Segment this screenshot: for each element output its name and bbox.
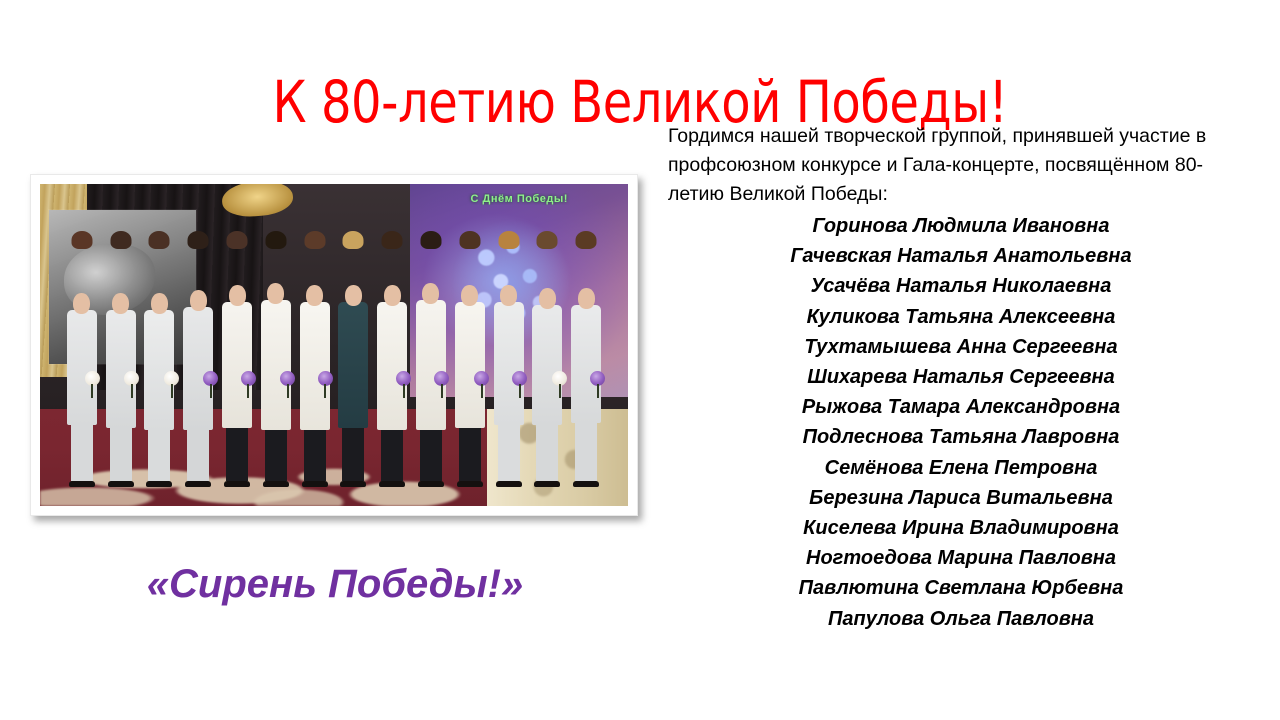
participant-name: Рыжова Тамара Александровна [668,392,1254,422]
person [528,236,567,487]
person [218,236,257,487]
person [101,236,140,487]
participant-name: Павлютина Светлана Юрбевна [668,573,1254,603]
participants-panel: Гордимся нашей творческой группой, приня… [668,122,1254,634]
group-photo: С Днём Победы! [40,184,628,506]
slide-root: К 80-летию Великой Победы! С Днём Победы… [0,0,1280,720]
person [179,236,218,487]
person [295,236,334,487]
participant-name: Усачёва Наталья Николаевна [668,271,1254,301]
participant-name: Березина Лариса Витальевна [668,483,1254,513]
person [62,236,101,487]
projection-screen-text: С Днём Победы! [410,193,628,205]
photo-caption: «Сирень Победы!» [30,562,640,607]
person [412,236,451,487]
participant-name: Шихарева Наталья Сергеевна [668,362,1254,392]
person [567,236,606,487]
participant-name: Папулова Ольга Павловна [668,604,1254,634]
choir-group [40,236,628,487]
person [489,236,528,487]
participant-name: Тухтамышева Анна Сергеевна [668,332,1254,362]
participant-name: Подлеснова Татьяна Лавровна [668,422,1254,452]
person [256,236,295,487]
person [373,236,412,487]
participant-name: Киселева Ирина Владимировна [668,513,1254,543]
participant-name: Куликова Татьяна Алексеевна [668,302,1254,332]
person [450,236,489,487]
person [334,236,373,487]
person [140,236,179,487]
participant-name: Гачевская Наталья Анатольевна [668,241,1254,271]
participants-list: Горинова Людмила ИвановнаГачевская Натал… [668,211,1254,634]
participant-name: Семёнова Елена Петровна [668,453,1254,483]
intro-paragraph: Гордимся нашей творческой группой, приня… [668,122,1254,209]
group-photo-frame: С Днём Победы! [30,174,638,516]
participant-name: Горинова Людмила Ивановна [668,211,1254,241]
participant-name: Ногтоедова Марина Павловна [668,543,1254,573]
